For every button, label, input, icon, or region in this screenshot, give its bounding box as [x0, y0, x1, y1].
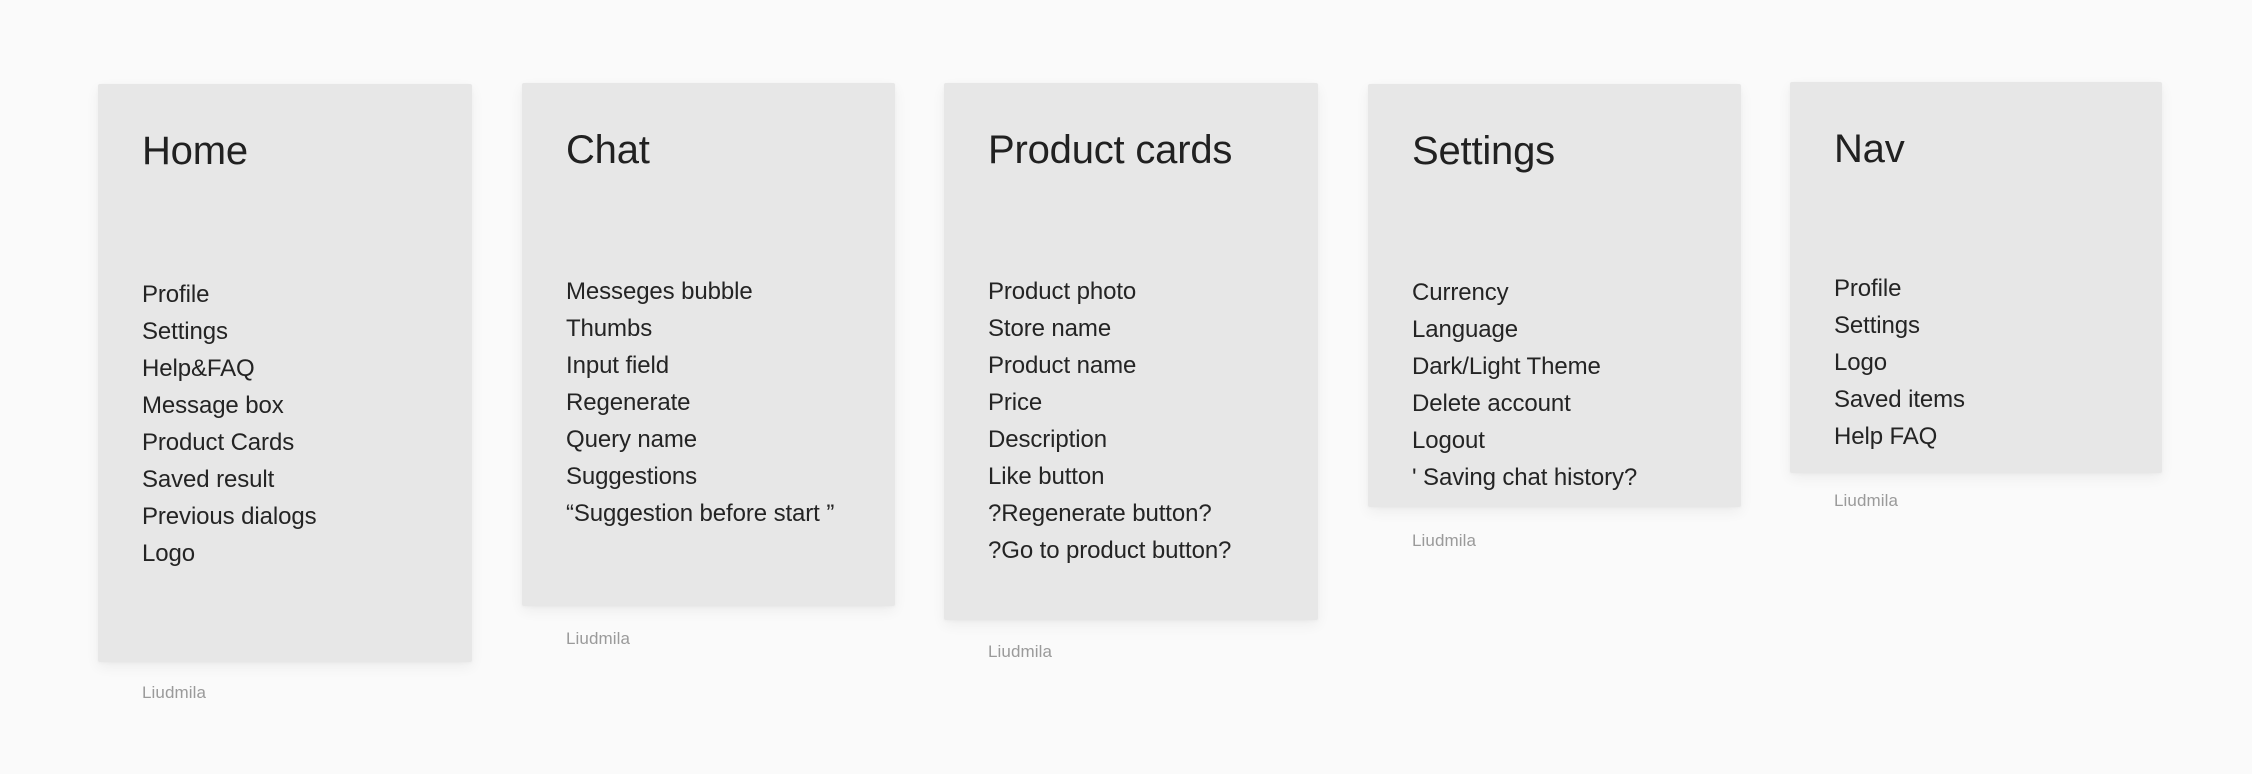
card-title-home: Home [142, 128, 472, 174]
list-item[interactable]: Help FAQ [1834, 418, 1965, 455]
list-item[interactable]: Regenerate [566, 384, 834, 421]
list-item[interactable]: Settings [1834, 307, 1965, 344]
card-chat[interactable]: Chat Messeges bubble Thumbs Input field … [522, 83, 895, 606]
list-item[interactable]: Store name [988, 310, 1231, 347]
list-item[interactable]: Language [1412, 311, 1637, 348]
list-item[interactable]: Profile [142, 276, 317, 313]
card-author-home: Liudmila [142, 682, 206, 704]
list-item[interactable]: Previous dialogs [142, 498, 317, 535]
card-title-nav: Nav [1834, 126, 2162, 172]
list-item[interactable]: Currency [1412, 274, 1637, 311]
list-item[interactable]: Thumbs [566, 310, 834, 347]
card-product-cards[interactable]: Product cards Product photo Store name P… [944, 83, 1318, 620]
card-list-chat: Messeges bubble Thumbs Input field Regen… [566, 273, 834, 532]
card-nav[interactable]: Nav Profile Settings Logo Saved items He… [1790, 82, 2162, 473]
list-item[interactable]: Product photo [988, 273, 1231, 310]
list-item[interactable]: Help&FAQ [142, 350, 317, 387]
list-item[interactable]: Input field [566, 347, 834, 384]
list-item[interactable]: Message box [142, 387, 317, 424]
card-list-settings: Currency Language Dark/Light Theme Delet… [1412, 274, 1637, 496]
list-item[interactable]: Messeges bubble [566, 273, 834, 310]
card-board: Home Profile Settings Help&FAQ Message b… [0, 0, 2252, 774]
list-item[interactable]: Profile [1834, 270, 1965, 307]
list-item[interactable]: ' Saving chat history? [1412, 459, 1637, 496]
card-title-chat: Chat [566, 127, 895, 173]
list-item[interactable]: Logo [142, 535, 317, 572]
list-item[interactable]: “Suggestion before start ” [566, 495, 834, 532]
card-list-home: Profile Settings Help&FAQ Message box Pr… [142, 276, 317, 572]
list-item[interactable]: Logout [1412, 422, 1637, 459]
card-settings[interactable]: Settings Currency Language Dark/Light Th… [1368, 84, 1741, 507]
list-item[interactable]: Price [988, 384, 1231, 421]
list-item[interactable]: ?Go to product button? [988, 532, 1231, 569]
card-author-product-cards: Liudmila [988, 641, 1052, 663]
list-item[interactable]: Suggestions [566, 458, 834, 495]
card-home[interactable]: Home Profile Settings Help&FAQ Message b… [98, 84, 472, 662]
card-author-chat: Liudmila [566, 628, 630, 650]
list-item[interactable]: Product Cards [142, 424, 317, 461]
list-item[interactable]: ?Regenerate button? [988, 495, 1231, 532]
list-item[interactable]: Saved result [142, 461, 317, 498]
card-author-settings: Liudmila [1412, 530, 1476, 552]
list-item[interactable]: Logo [1834, 344, 1965, 381]
list-item[interactable]: Dark/Light Theme [1412, 348, 1637, 385]
card-author-nav: Liudmila [1834, 490, 1898, 512]
list-item[interactable]: Saved items [1834, 381, 1965, 418]
card-title-product-cards: Product cards [988, 127, 1318, 173]
list-item[interactable]: Settings [142, 313, 317, 350]
list-item[interactable]: Like button [988, 458, 1231, 495]
list-item[interactable]: Product name [988, 347, 1231, 384]
list-item[interactable]: Description [988, 421, 1231, 458]
card-list-product-cards: Product photo Store name Product name Pr… [988, 273, 1231, 569]
list-item[interactable]: Query name [566, 421, 834, 458]
card-list-nav: Profile Settings Logo Saved items Help F… [1834, 270, 1965, 455]
card-title-settings: Settings [1412, 128, 1741, 174]
list-item[interactable]: Delete account [1412, 385, 1637, 422]
